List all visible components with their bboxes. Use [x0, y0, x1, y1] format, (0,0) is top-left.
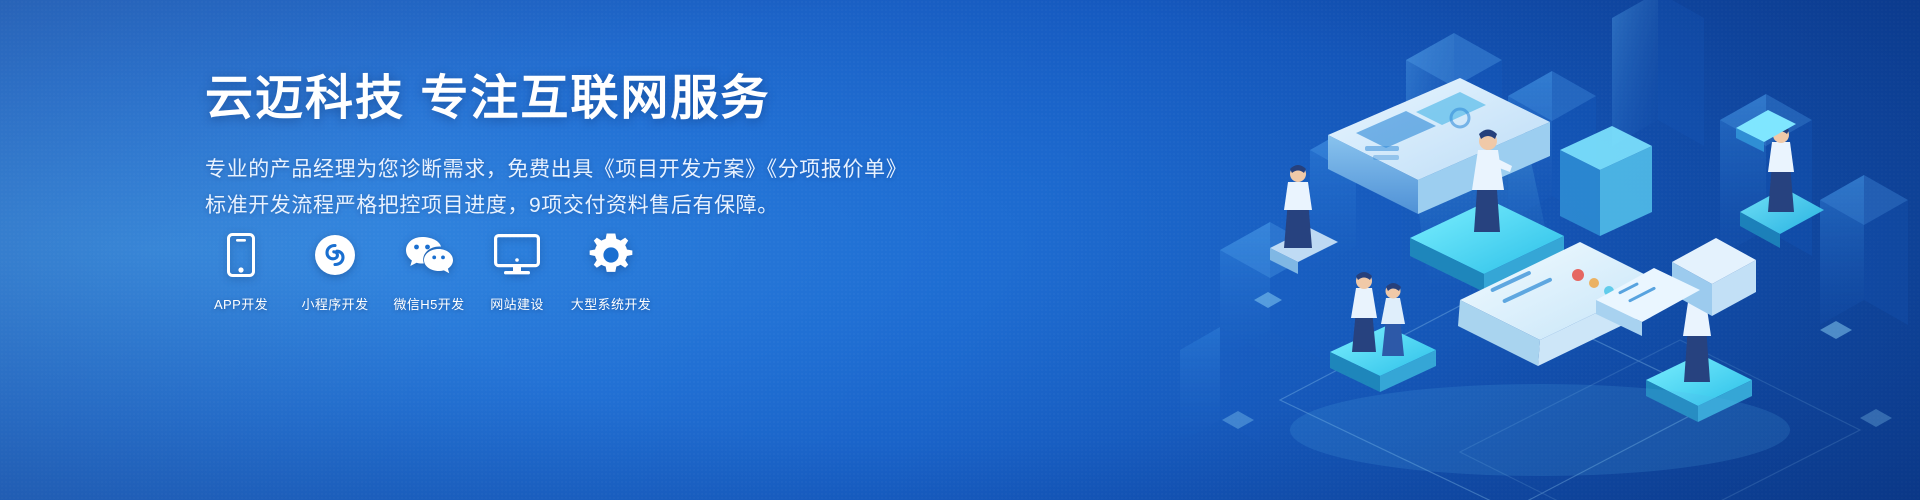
mobile-phone-icon: [227, 232, 255, 278]
subtitle-line-1: 专业的产品经理为您诊断需求，免费出具《项目开发方案》《分项报价单》: [205, 152, 965, 188]
service-item-website[interactable]: 网站建设: [481, 232, 553, 313]
wechat-icon: [404, 232, 454, 278]
subtitle-line-2: 标准开发流程严格把控项目进度，9项交付资料售后有保障。: [205, 188, 965, 224]
service-item-wechat[interactable]: 微信H5开发: [393, 232, 465, 313]
gear-icon: [589, 232, 633, 278]
cube-box: [1672, 238, 1756, 316]
hero-subtitle: 专业的产品经理为您诊断需求，免费出具《项目开发方案》《分项报价单》 标准开发流程…: [205, 152, 965, 224]
service-label: 网站建设: [490, 294, 544, 313]
service-label: 大型系统开发: [571, 294, 651, 313]
service-label: 微信H5开发: [393, 294, 464, 313]
service-item-app[interactable]: APP开发: [205, 232, 277, 313]
service-item-miniprogram[interactable]: 小程序开发: [299, 232, 371, 313]
person-left-a: [1351, 272, 1377, 352]
service-label: 小程序开发: [301, 294, 368, 313]
monitor-icon: [494, 232, 540, 278]
person-left-b: [1381, 283, 1405, 356]
service-label: APP开发: [214, 294, 268, 313]
page-title: 云迈科技 专注互联网服务: [205, 72, 965, 126]
pedestal-left: [1330, 326, 1436, 392]
mini-program-icon: [314, 232, 356, 278]
hero-copy: 云迈科技 专注互联网服务 专业的产品经理为您诊断需求，免费出具《项目开发方案》《…: [205, 72, 965, 224]
hero-banner: 云迈科技 专注互联网服务 专业的产品经理为您诊断需求，免费出具《项目开发方案》《…: [0, 0, 1920, 500]
service-list: APP开发 小程序开发: [205, 232, 647, 313]
isometric-illustration: [1160, 0, 1920, 500]
service-item-system[interactable]: 大型系统开发: [575, 232, 647, 313]
